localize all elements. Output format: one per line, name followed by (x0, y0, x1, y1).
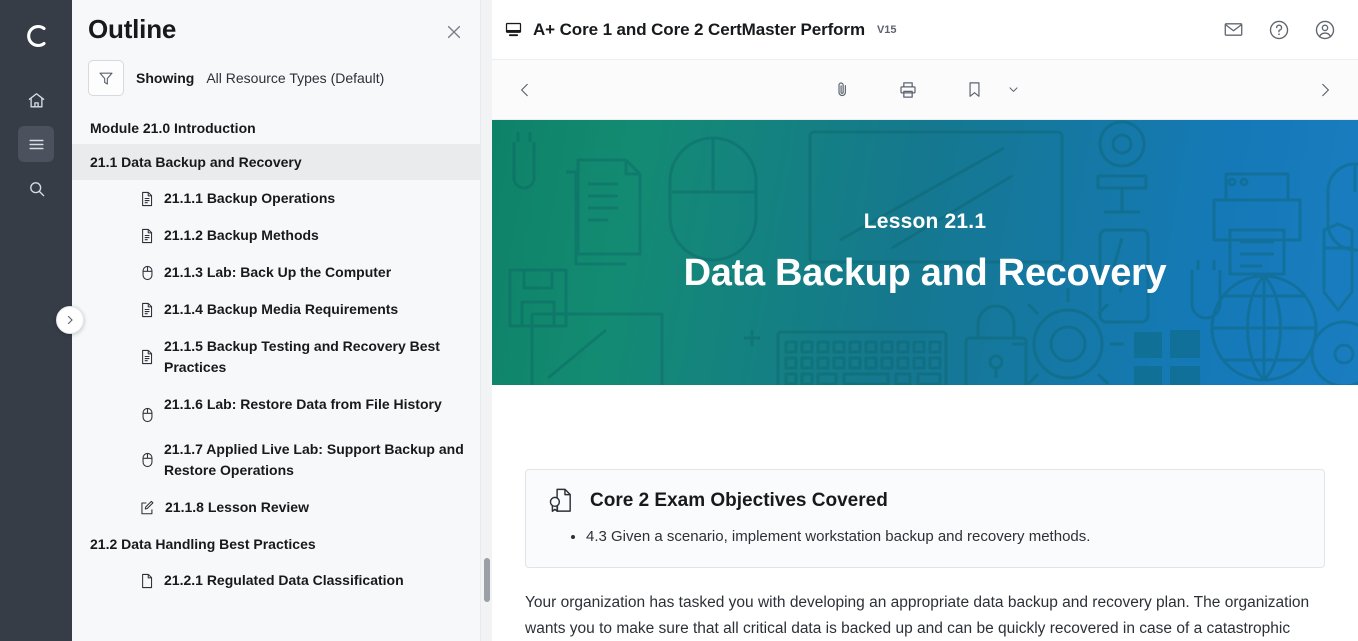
chevron-right-icon (1316, 81, 1334, 99)
outline-item-label: 21.1.2 Backup Methods (164, 225, 319, 246)
lesson-body: Core 2 Exam Objectives Covered 4.3 Given… (492, 469, 1358, 641)
exam-objective-item: 4.3 Given a scenario, implement workstat… (586, 525, 1304, 549)
home-icon (27, 91, 46, 110)
course-title-group: A+ Core 1 and Core 2 CertMaster Perform … (504, 20, 897, 40)
lesson-document: Lesson 21.1 Data Backup and Recovery (492, 120, 1358, 641)
account-circle-icon[interactable] (1312, 17, 1338, 43)
outline-section-21-1[interactable]: 21.1 Data Backup and Recovery (72, 144, 492, 180)
global-nav-rail (0, 0, 72, 641)
outline-item-21-1-3[interactable]: 21.1.3 Lab: Back Up the Computer (72, 254, 492, 291)
search-icon (27, 179, 46, 198)
outline-item-21-1-4[interactable]: 21.1.4 Backup Media Requirements (72, 291, 492, 328)
page-title: A+ Core 1 and Core 2 CertMaster Perform (533, 20, 865, 40)
course-header: A+ Core 1 and Core 2 CertMaster Perform … (492, 0, 1358, 60)
panel-expand-handle[interactable] (56, 306, 84, 334)
attachment-icon[interactable] (827, 75, 857, 105)
outline-title: Outline (88, 14, 176, 45)
mouse-icon (140, 407, 154, 423)
showing-label: Showing (136, 70, 194, 86)
document-toolbar (492, 60, 1358, 120)
mouse-icon (140, 452, 154, 468)
main-content: A+ Core 1 and Core 2 CertMaster Perform … (492, 0, 1358, 641)
outline-item-label: 21.1.4 Backup Media Requirements (164, 299, 398, 320)
close-icon[interactable] (440, 18, 468, 46)
outline-header: Outline (72, 0, 492, 46)
outline-item-21-1-7[interactable]: 21.1.7 Applied Live Lab: Support Backup … (72, 431, 492, 489)
outline-item-label: 21.1.5 Backup Testing and Recovery Best … (164, 336, 470, 378)
chevron-left-icon (516, 81, 534, 99)
rail-item-outline[interactable] (18, 126, 54, 162)
chevron-right-icon (64, 314, 76, 326)
outline-panel: Outline Showing All Resource Types (Defa… (72, 0, 492, 641)
application-root: Outline Showing All Resource Types (Defa… (0, 0, 1358, 641)
comptia-c-logo[interactable] (12, 12, 60, 60)
lesson-banner: Lesson 21.1 Data Backup and Recovery (492, 120, 1358, 385)
bookmark-icon[interactable] (959, 75, 989, 105)
toolbar-tools (492, 75, 1358, 105)
document-icon (140, 573, 154, 589)
next-page-button[interactable] (1308, 73, 1342, 107)
outline-section-21-2[interactable]: 21.2 Data Handling Best Practices (72, 526, 492, 562)
mail-icon[interactable] (1220, 17, 1246, 43)
exam-objectives-list: 4.3 Given a scenario, implement workstat… (586, 525, 1304, 549)
pencil-square-icon (140, 500, 155, 516)
outline-item-label: 21.2.1 Regulated Data Classification (164, 570, 404, 591)
document-icon (140, 349, 154, 365)
lesson-intro-paragraph: Your organization has tasked you with de… (525, 590, 1325, 641)
chevron-down-icon[interactable] (1003, 75, 1023, 105)
help-circle-icon[interactable] (1266, 17, 1292, 43)
banner-lesson-title: Data Backup and Recovery (684, 252, 1167, 295)
filter-row: Showing All Resource Types (Default) (72, 46, 492, 106)
exam-objectives-card: Core 2 Exam Objectives Covered 4.3 Given… (525, 469, 1325, 568)
exam-objectives-header: Core 2 Exam Objectives Covered (546, 486, 1304, 515)
prev-page-button[interactable] (508, 73, 542, 107)
outline-item-21-1-5[interactable]: 21.1.5 Backup Testing and Recovery Best … (72, 328, 492, 386)
showing-value[interactable]: All Resource Types (Default) (206, 70, 384, 86)
document-icon (140, 302, 154, 318)
print-icon[interactable] (893, 75, 923, 105)
outline-item-21-1-6[interactable]: 21.1.6 Lab: Restore Data from File Histo… (72, 386, 492, 431)
document-icon (140, 228, 154, 244)
outline-tree: Module 21.0 Introduction 21.1 Data Backu… (72, 112, 492, 599)
outline-tree-scroll: Module 21.0 Introduction 21.1 Data Backu… (72, 106, 492, 641)
document-icon (140, 191, 154, 207)
outline-item-label: 21.1.8 Lesson Review (165, 497, 309, 518)
outline-scrollbar-thumb[interactable] (484, 558, 490, 602)
outline-item-21-1-1[interactable]: 21.1.1 Backup Operations (72, 180, 492, 217)
rail-item-home[interactable] (18, 82, 54, 118)
banner-lesson-number: Lesson 21.1 (864, 210, 986, 234)
outline-scrollbar[interactable] (480, 0, 492, 641)
outline-item-label: 21.1.6 Lab: Restore Data from File Histo… (164, 394, 442, 415)
monitor-icon (504, 20, 523, 39)
outline-item-21-1-2[interactable]: 21.1.2 Backup Methods (72, 217, 492, 254)
outline-module-21-0[interactable]: Module 21.0 Introduction (72, 112, 492, 144)
outline-item-21-1-8[interactable]: 21.1.8 Lesson Review (72, 489, 492, 526)
outline-item-label: 21.1.3 Lab: Back Up the Computer (164, 262, 391, 283)
header-actions (1220, 17, 1338, 43)
exam-objectives-title: Core 2 Exam Objectives Covered (590, 490, 888, 512)
rail-item-search[interactable] (18, 170, 54, 206)
certificate-document-icon (546, 486, 576, 515)
outline-item-21-2-1[interactable]: 21.2.1 Regulated Data Classification (72, 562, 492, 599)
filter-icon[interactable] (88, 60, 124, 96)
outline-item-label: 21.1.7 Applied Live Lab: Support Backup … (164, 439, 470, 481)
mouse-icon (140, 265, 154, 281)
outline-item-label: 21.1.1 Backup Operations (164, 188, 335, 209)
outline-icon (27, 135, 46, 154)
version-badge: V15 (877, 24, 897, 36)
